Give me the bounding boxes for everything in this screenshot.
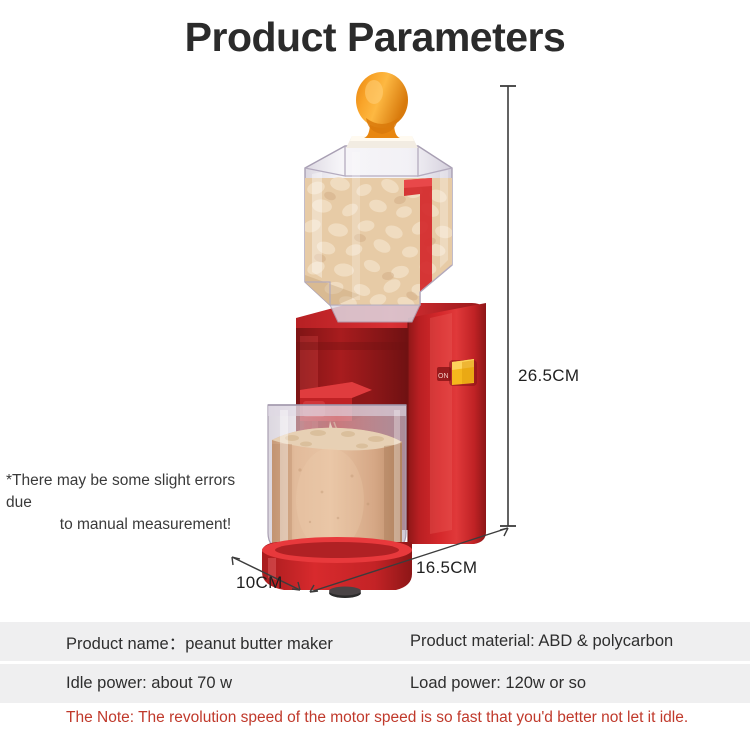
spec-product-name: Product name：peanut butter maker	[66, 630, 333, 654]
spec-row: Product name：peanut butter maker Product…	[0, 622, 750, 661]
dimension-line-height	[500, 86, 516, 526]
product-parameters-page: Product Parameters	[0, 0, 750, 750]
spec-load-power: Load power: 120w or so	[410, 674, 586, 693]
page-title: Product Parameters	[0, 13, 750, 61]
measurement-note-line1: *There may be some slight errors due	[6, 470, 261, 514]
spec-table: Product name：peanut butter maker Product…	[0, 622, 750, 703]
spec-idle-power: Idle power: about 70 w	[66, 674, 232, 693]
peanut-butter-fill	[272, 428, 402, 552]
dimension-label-width: 16.5CM	[416, 558, 477, 578]
spec-row: Idle power: about 70 w Load power: 120w …	[0, 664, 750, 703]
peanut-hopper	[300, 146, 460, 322]
product-image-svg: ON	[0, 60, 750, 620]
product-illustration: ON	[0, 60, 750, 620]
peanut-fill	[300, 176, 460, 312]
collection-cup	[268, 405, 406, 552]
orange-knob	[356, 72, 408, 138]
switch-on-label: ON	[438, 373, 449, 380]
measurement-note-line2: to manual measurement!	[6, 514, 261, 536]
spec-product-material: Product material: ABD & polycarbon	[410, 632, 673, 651]
measurement-error-note: *There may be some slight errors due to …	[6, 470, 261, 536]
dimension-label-depth: 10CM	[236, 573, 283, 593]
dimension-label-height: 26.5CM	[518, 366, 579, 386]
base-tray	[262, 537, 412, 598]
warning-note: The Note: The revolution speed of the mo…	[0, 703, 750, 733]
